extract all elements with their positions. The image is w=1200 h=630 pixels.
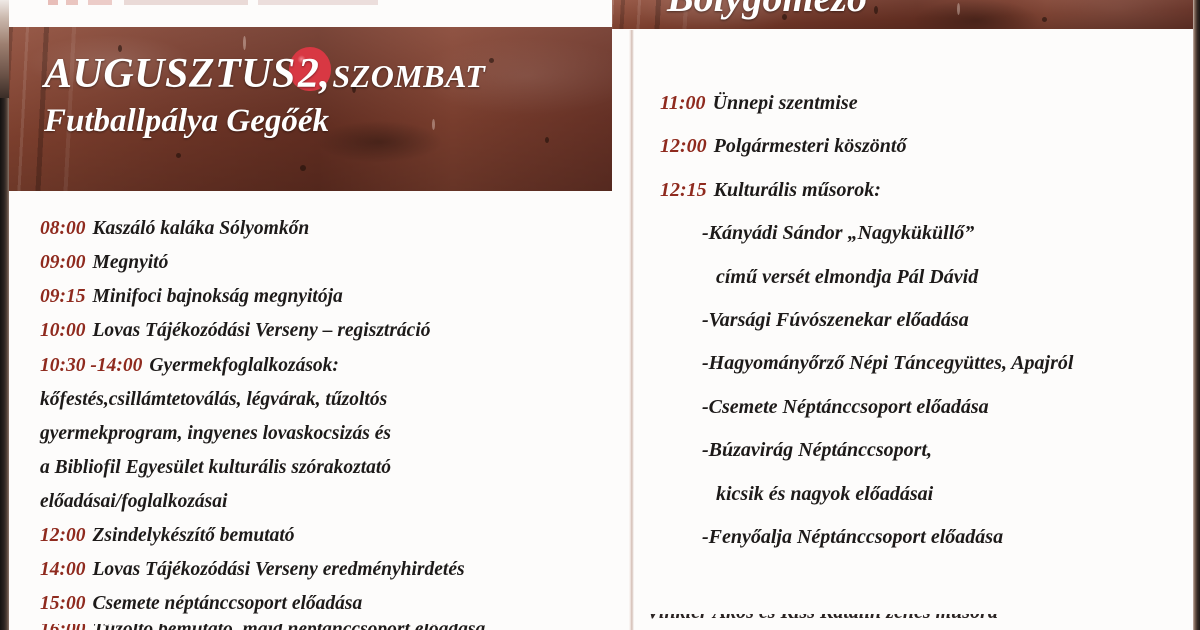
schedule-description: Lovas Tájékozódási Verseny – regisztráci… — [93, 320, 431, 341]
schedule-description: előadásai/foglalkozásai — [40, 491, 227, 512]
schedule-row: 16:00Tűzoltó bemutató, majd néptánccsopo… — [40, 624, 610, 630]
schedule-row: 12:00Zsindelykészítő bemutató — [40, 521, 610, 551]
left-banner-weekday: SZOMBAT — [332, 58, 485, 94]
schedule-time: 12:00 — [660, 135, 707, 157]
schedule-row: -Fenyőalja Néptánccsoport előadása — [660, 522, 1180, 552]
schedule-row: 09:00Megnyitó — [40, 248, 610, 278]
schedule-row: -Búzavirág Néptánccsoport, — [660, 435, 1180, 465]
schedule-description: Gyermekfoglalkozások: — [149, 355, 339, 376]
schedule-row: -Kányádi Sándor „Nagyküküllő” — [660, 218, 1180, 248]
schedule-description: Kaszáló kaláka Sólyomkőn — [93, 218, 310, 239]
schedule-description: -Búzavirág Néptánccsoport, — [702, 439, 932, 461]
schedule-description: -Hagyományőrző Népi Táncegyüttes, Apajró… — [702, 352, 1073, 374]
left-schedule-list: 08:00Kaszáló kaláka Sólyomkőn09:00Megnyi… — [40, 214, 610, 630]
schedule-row: gyermekprogram, ingyenes lovaskocsizás é… — [40, 419, 610, 449]
schedule-description: a Bibliofil Egyesület kulturális szórako… — [40, 457, 391, 478]
schedule-row: előadásai/foglalkozásai — [40, 487, 610, 517]
schedule-row: 10:30 -14:00Gyermekfoglalkozások: — [40, 351, 610, 381]
left-banner-day-number: 2, — [296, 53, 333, 95]
poster-canvas: AUGUSZTUS2,SZOMBAT Futballpálya Gegőék B… — [0, 0, 1200, 630]
schedule-row: -Csemete Néptánccsoport előadása — [660, 392, 1180, 422]
left-day-banner: AUGUSZTUS2,SZOMBAT Futballpálya Gegőék — [0, 27, 612, 191]
schedule-row: 08:00Kaszáló kaláka Sólyomkőn — [40, 214, 610, 244]
schedule-row: 09:15Minifoci bajnokság megnyitója — [40, 282, 610, 312]
schedule-row: 10:00Lovas Tájékozódási Verseny – regisz… — [40, 316, 610, 346]
schedule-row: kőfestés,csillámtetoválás, légvárak, tűz… — [40, 385, 610, 415]
schedule-row: kicsik és nagyok előadásai — [660, 479, 1180, 509]
clipped-header-text-left — [48, 0, 378, 5]
schedule-time: 08:00 — [40, 218, 86, 239]
column-divider — [629, 30, 634, 630]
schedule-time: 11:00 — [660, 92, 706, 114]
scan-edge-left-top — [0, 0, 9, 98]
right-schedule-list: 11:00Ünnepi szentmise12:00Polgármesteri … — [660, 88, 1180, 565]
schedule-row: 12:15Kulturális műsorok: — [660, 175, 1180, 205]
schedule-description: -Csemete Néptánccsoport előadása — [702, 396, 989, 418]
schedule-time: 14:00 — [40, 559, 86, 580]
schedule-time: 12:15 — [660, 179, 707, 201]
schedule-description: Csemete néptánccsoport előadása — [93, 593, 363, 614]
schedule-description: kicsik és nagyok előadásai — [716, 483, 933, 505]
schedule-description: Tűzoltó bemutató, majd néptánccsoport el… — [93, 624, 486, 630]
schedule-row-clipped-inner: 16:00Tűzoltó bemutató, majd néptánccsopo… — [40, 624, 485, 630]
schedule-time: 12:00 — [40, 525, 86, 546]
schedule-description: -Fenyőalja Néptánccsoport előadása — [702, 526, 1003, 548]
schedule-time: 10:00 — [40, 320, 86, 341]
schedule-description: Lovas Tájékozódási Verseny eredményhirde… — [93, 559, 465, 580]
schedule-description: -Varsági Fúvószenekar előadása — [702, 309, 969, 331]
schedule-description: Zsindelykészítő bemutató — [93, 525, 295, 546]
right-venue-banner: Bolygómező — [612, 0, 1200, 29]
schedule-row: 14:00Lovas Tájékozódási Verseny eredmény… — [40, 555, 610, 585]
right-schedule-clipped-row: -Vinkler Ákos és Kiss Katalin zenés műso… — [640, 614, 1200, 630]
schedule-description: Polgármesteri köszöntő — [714, 135, 907, 157]
schedule-time: 09:15 — [40, 286, 86, 307]
schedule-description: Minifoci bajnokság megnyitója — [93, 286, 343, 307]
right-schedule-clipped-text: -Vinkler Ákos és Kiss Katalin zenés műso… — [640, 614, 998, 624]
schedule-row: című versét elmondja Pál Dávid — [660, 262, 1180, 292]
schedule-description: Megnyitó — [93, 252, 169, 273]
schedule-description: kőfestés,csillámtetoválás, légvárak, tűz… — [40, 389, 387, 410]
schedule-description: Ünnepi szentmise — [713, 92, 858, 114]
left-banner-month: AUGUSZTUS — [44, 51, 296, 97]
schedule-time: 10:30 -14:00 — [40, 355, 142, 376]
schedule-row: 15:00Csemete néptánccsoport előadása — [40, 589, 610, 619]
schedule-row: 12:00Polgármesteri köszöntő — [660, 131, 1180, 161]
right-banner-venue: Bolygómező — [667, 0, 867, 21]
schedule-time: 09:00 — [40, 252, 86, 273]
schedule-row: 11:00Ünnepi szentmise — [660, 88, 1180, 118]
scan-edge-right — [1193, 0, 1200, 630]
schedule-time: 15:00 — [40, 593, 86, 614]
schedule-time: 16:00 — [40, 624, 86, 630]
schedule-row: -Varsági Fúvószenekar előadása — [660, 305, 1180, 335]
schedule-row: -Hagyományőrző Népi Táncegyüttes, Apajró… — [660, 348, 1180, 378]
left-banner-day-value: 2, — [298, 51, 331, 97]
schedule-description: című versét elmondja Pál Dávid — [716, 266, 978, 288]
left-banner-date-line: AUGUSZTUS2,SZOMBAT — [44, 53, 602, 95]
schedule-description: Kulturális műsorok: — [714, 179, 881, 201]
schedule-description: gyermekprogram, ingyenes lovaskocsizás é… — [40, 423, 391, 444]
schedule-row: a Bibliofil Egyesület kulturális szórako… — [40, 453, 610, 483]
left-banner-venue: Futballpálya Gegőék — [44, 103, 602, 140]
schedule-description: -Kányádi Sándor „Nagyküküllő” — [702, 222, 974, 244]
